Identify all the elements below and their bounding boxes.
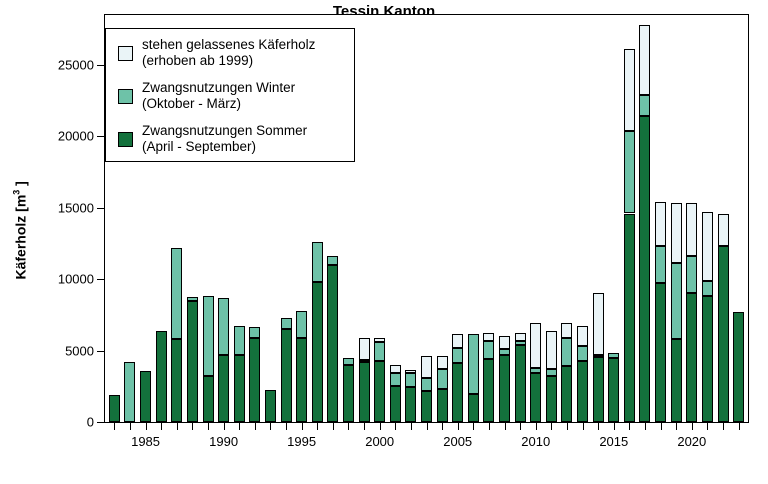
x-tick-label-1985: 1985	[131, 434, 160, 449]
bar-segment-summer-2001	[390, 386, 401, 422]
y-tick-mark	[97, 422, 105, 423]
bar-2007	[483, 15, 494, 422]
x-tick-2015	[614, 422, 615, 430]
bar-2006	[468, 15, 479, 422]
bar-segment-summer-2014	[593, 357, 604, 422]
x-tick-label-2015: 2015	[599, 434, 628, 449]
bar-segment-standing-2019	[671, 203, 682, 264]
bar-segment-summer-1987	[171, 339, 182, 422]
bar-segment-standing-2020	[686, 203, 697, 257]
legend-entry-standing: stehen gelassenes Käferholz(erhoben ab 1…	[106, 37, 356, 69]
bar-segment-standing-2008	[499, 336, 510, 350]
legend-entry-winter: Zwangsnutzungen Winter(Oktober - März)	[106, 80, 356, 112]
bar-segment-summer-2015	[608, 358, 619, 422]
bar-2003	[421, 15, 432, 422]
bar-segment-winter-2001	[390, 373, 401, 386]
bar-2008	[499, 15, 510, 422]
bar-segment-winter-1997	[327, 256, 338, 265]
x-tick-1995	[302, 422, 303, 430]
x-tick-1984	[130, 422, 131, 430]
bar-segment-summer-2009	[515, 345, 526, 422]
bar-segment-summer-2012	[561, 366, 572, 422]
bar-segment-winter-1989	[203, 296, 214, 376]
bar-2016	[624, 15, 635, 422]
bar-segment-winter-1991	[234, 326, 245, 355]
bar-1999	[359, 15, 370, 422]
bar-segment-standing-2005	[452, 334, 463, 348]
bar-segment-summer-2003	[421, 391, 432, 422]
bar-segment-summer-1989	[203, 376, 214, 422]
x-tick-2017	[645, 422, 646, 430]
x-tick-1992	[255, 422, 256, 430]
bar-segment-standing-2022	[718, 214, 729, 247]
legend-label-line2: (April - September)	[142, 139, 307, 155]
bar-2020	[686, 15, 697, 422]
x-tick-2002	[411, 422, 412, 430]
x-tick-label-2020: 2020	[677, 434, 706, 449]
bar-segment-summer-1995	[296, 338, 307, 422]
legend-label-summer: Zwangsnutzungen Sommer(April - September…	[142, 123, 307, 155]
chart-root: Tessin Kanton Käferholz [m3 ] 0500010000…	[0, 0, 768, 484]
bar-2019	[671, 15, 682, 422]
bar-segment-winter-1988	[187, 297, 198, 301]
x-tick-label-2000: 2000	[365, 434, 394, 449]
bar-segment-standing-2021	[702, 212, 713, 281]
bar-segment-winter-2008	[499, 349, 510, 355]
x-tick-1985	[146, 422, 147, 430]
bar-segment-summer-2000	[374, 361, 385, 422]
y-tick-label: 15000	[58, 200, 94, 215]
bar-segment-standing-2016	[624, 49, 635, 130]
bar-segment-winter-2004	[437, 369, 448, 389]
bar-segment-standing-2007	[483, 333, 494, 341]
bar-segment-winter-2014	[593, 355, 604, 357]
x-tick-2009	[520, 422, 521, 430]
bar-segment-winter-2005	[452, 348, 463, 363]
legend-label-line2: (erhoben ab 1999)	[142, 53, 315, 69]
bar-2017	[639, 15, 650, 422]
bar-segment-standing-2003	[421, 356, 432, 378]
bar-segment-summer-1997	[327, 265, 338, 422]
x-tick-2005	[458, 422, 459, 430]
y-tick-label: 20000	[58, 129, 94, 144]
legend-label-line1: Zwangsnutzungen Sommer	[142, 123, 307, 139]
y-tick-mark	[97, 65, 105, 66]
bar-segment-winter-2003	[421, 378, 432, 391]
y-axis-label-base: Käferholz [m	[12, 195, 28, 280]
bar-segment-summer-2023	[733, 312, 744, 422]
y-axis-label-wrap: Käferholz [m3 ]	[2, 0, 28, 484]
bar-segment-standing-2012	[561, 323, 572, 337]
x-tick-1986	[161, 422, 162, 430]
y-axis-label-tail: ]	[12, 181, 28, 190]
x-tick-label-2010: 2010	[521, 434, 550, 449]
bar-segment-summer-1988	[187, 301, 198, 422]
bar-segment-winter-2006	[468, 334, 479, 394]
x-tick-2011	[551, 422, 552, 430]
x-tick-1994	[286, 422, 287, 430]
x-tick-1988	[192, 422, 193, 430]
x-tick-2003	[427, 422, 428, 430]
bar-segment-summer-1999	[359, 362, 370, 422]
y-tick-label: 10000	[58, 272, 94, 287]
x-tick-1987	[177, 422, 178, 430]
x-tick-label-2005: 2005	[443, 434, 472, 449]
x-tick-2016	[629, 422, 630, 430]
bar-segment-winter-2019	[671, 263, 682, 339]
legend-entry-summer: Zwangsnutzungen Sommer(April - September…	[106, 123, 356, 155]
bar-segment-summer-1990	[218, 355, 229, 422]
legend-swatch-summer	[118, 132, 133, 147]
x-tick-2004	[442, 422, 443, 430]
x-tick-2008	[505, 422, 506, 430]
bar-segment-standing-2011	[546, 331, 557, 370]
x-tick-1993	[270, 422, 271, 430]
y-axis-label: Käferholz [m3 ]	[12, 120, 29, 340]
bar-segment-summer-2017	[639, 116, 650, 422]
bar-segment-winter-1987	[171, 248, 182, 339]
bar-segment-summer-1991	[234, 355, 245, 422]
bar-2018	[655, 15, 666, 422]
y-tick-label: 5000	[65, 343, 94, 358]
x-tick-label-1995: 1995	[287, 434, 316, 449]
bar-segment-winter-2017	[639, 95, 650, 116]
bar-segment-summer-1992	[249, 338, 260, 422]
bar-2004	[437, 15, 448, 422]
y-tick-label: 0	[87, 415, 94, 430]
bar-segment-summer-1983	[109, 395, 120, 422]
bar-2001	[390, 15, 401, 422]
x-tick-2013	[583, 422, 584, 430]
x-tick-2001	[395, 422, 396, 430]
bar-segment-summer-2007	[483, 359, 494, 422]
x-tick-2021	[707, 422, 708, 430]
x-tick-2014	[598, 422, 599, 430]
bar-segment-summer-2008	[499, 355, 510, 422]
bar-2012	[561, 15, 572, 422]
legend-swatch-standing	[118, 46, 133, 61]
bar-segment-winter-2009	[515, 341, 526, 345]
bar-segment-summer-2022	[718, 246, 729, 422]
x-tick-1989	[208, 422, 209, 430]
bar-segment-winter-2000	[374, 342, 385, 361]
x-tick-1983	[114, 422, 115, 430]
bar-segment-winter-1990	[218, 298, 229, 354]
bar-segment-summer-2021	[702, 296, 713, 422]
bar-2013	[577, 15, 588, 422]
bar-segment-summer-2005	[452, 363, 463, 422]
bar-segment-winter-2015	[608, 353, 619, 358]
bar-segment-summer-1996	[312, 282, 323, 422]
bar-segment-summer-1985	[140, 371, 151, 422]
bar-segment-summer-2018	[655, 283, 666, 422]
x-tick-2012	[567, 422, 568, 430]
bar-segment-summer-1993	[265, 390, 276, 422]
y-tick-mark	[97, 351, 105, 352]
bar-segment-winter-2021	[702, 281, 713, 296]
y-axis-label-exponent: 3	[12, 190, 22, 195]
bar-2015	[608, 15, 619, 422]
bar-segment-winter-1995	[296, 311, 307, 337]
bar-segment-summer-2010	[530, 373, 541, 422]
bar-segment-winter-1998	[343, 358, 354, 364]
bar-segment-summer-2011	[546, 376, 557, 422]
x-tick-2022	[723, 422, 724, 430]
bar-segment-standing-2000	[374, 338, 385, 342]
y-tick-mark	[97, 208, 105, 209]
bar-segment-winter-2018	[655, 246, 666, 283]
bar-2022	[718, 15, 729, 422]
bar-segment-standing-2014	[593, 293, 604, 354]
legend-label-winter: Zwangsnutzungen Winter(Oktober - März)	[142, 80, 295, 112]
bar-segment-standing-2010	[530, 323, 541, 368]
bar-segment-standing-1999	[359, 338, 370, 360]
bar-segment-standing-2017	[639, 25, 650, 95]
bar-2011	[546, 15, 557, 422]
bar-segment-summer-1994	[281, 329, 292, 422]
bar-segment-winter-2011	[546, 369, 557, 376]
bar-segment-summer-2016	[624, 214, 635, 422]
legend-label-line2: (Oktober - März)	[142, 96, 295, 112]
bar-2014	[593, 15, 604, 422]
bar-segment-standing-2018	[655, 202, 666, 246]
x-tick-2000	[380, 422, 381, 430]
bar-segment-summer-1998	[343, 365, 354, 422]
bar-segment-winter-2016	[624, 131, 635, 214]
bar-segment-winter-1996	[312, 242, 323, 282]
bar-segment-winter-1992	[249, 327, 260, 338]
bar-2010	[530, 15, 541, 422]
bar-segment-standing-2001	[390, 365, 401, 374]
bar-segment-winter-1984	[124, 362, 135, 422]
bar-segment-winter-2010	[530, 368, 541, 374]
bar-segment-standing-2013	[577, 326, 588, 346]
bar-segment-summer-2020	[686, 293, 697, 422]
bar-segment-winter-2013	[577, 346, 588, 361]
bar-2002	[405, 15, 416, 422]
x-tick-1991	[239, 422, 240, 430]
bar-segment-summer-1986	[156, 331, 167, 422]
bar-segment-summer-2002	[405, 387, 416, 422]
y-tick-mark	[97, 279, 105, 280]
x-tick-1996	[317, 422, 318, 430]
bar-segment-winter-1994	[281, 318, 292, 329]
bar-segment-summer-2006	[468, 394, 479, 422]
x-tick-2019	[676, 422, 677, 430]
bar-segment-standing-2002	[405, 370, 416, 373]
bar-segment-winter-2012	[561, 338, 572, 367]
x-tick-2020	[692, 422, 693, 430]
legend-label-standing: stehen gelassenes Käferholz(erhoben ab 1…	[142, 37, 315, 69]
x-tick-2023	[739, 422, 740, 430]
x-tick-2010	[536, 422, 537, 430]
legend-label-line1: Zwangsnutzungen Winter	[142, 80, 295, 96]
bar-segment-standing-2009	[515, 333, 526, 341]
bar-segment-standing-2004	[437, 356, 448, 370]
bar-segment-winter-1999	[359, 360, 370, 362]
bar-2021	[702, 15, 713, 422]
chart-legend: stehen gelassenes Käferholz(erhoben ab 1…	[105, 28, 355, 162]
x-tick-2018	[661, 422, 662, 430]
bar-segment-winter-2007	[483, 341, 494, 359]
x-tick-1999	[364, 422, 365, 430]
bar-2023	[733, 15, 744, 422]
bar-segment-summer-2004	[437, 389, 448, 422]
bar-2005	[452, 15, 463, 422]
y-tick-mark	[97, 136, 105, 137]
bar-2009	[515, 15, 526, 422]
bar-segment-summer-2019	[671, 339, 682, 422]
x-tick-2006	[473, 422, 474, 430]
bar-segment-winter-2020	[686, 256, 697, 293]
x-tick-1997	[333, 422, 334, 430]
legend-swatch-winter	[118, 89, 133, 104]
bar-segment-summer-2013	[577, 361, 588, 422]
x-tick-1990	[224, 422, 225, 430]
bar-2000	[374, 15, 385, 422]
x-tick-1998	[348, 422, 349, 430]
x-tick-2007	[489, 422, 490, 430]
legend-label-line1: stehen gelassenes Käferholz	[142, 37, 315, 53]
y-tick-label: 25000	[58, 57, 94, 72]
bar-segment-winter-2002	[405, 373, 416, 387]
x-tick-label-1990: 1990	[209, 434, 238, 449]
